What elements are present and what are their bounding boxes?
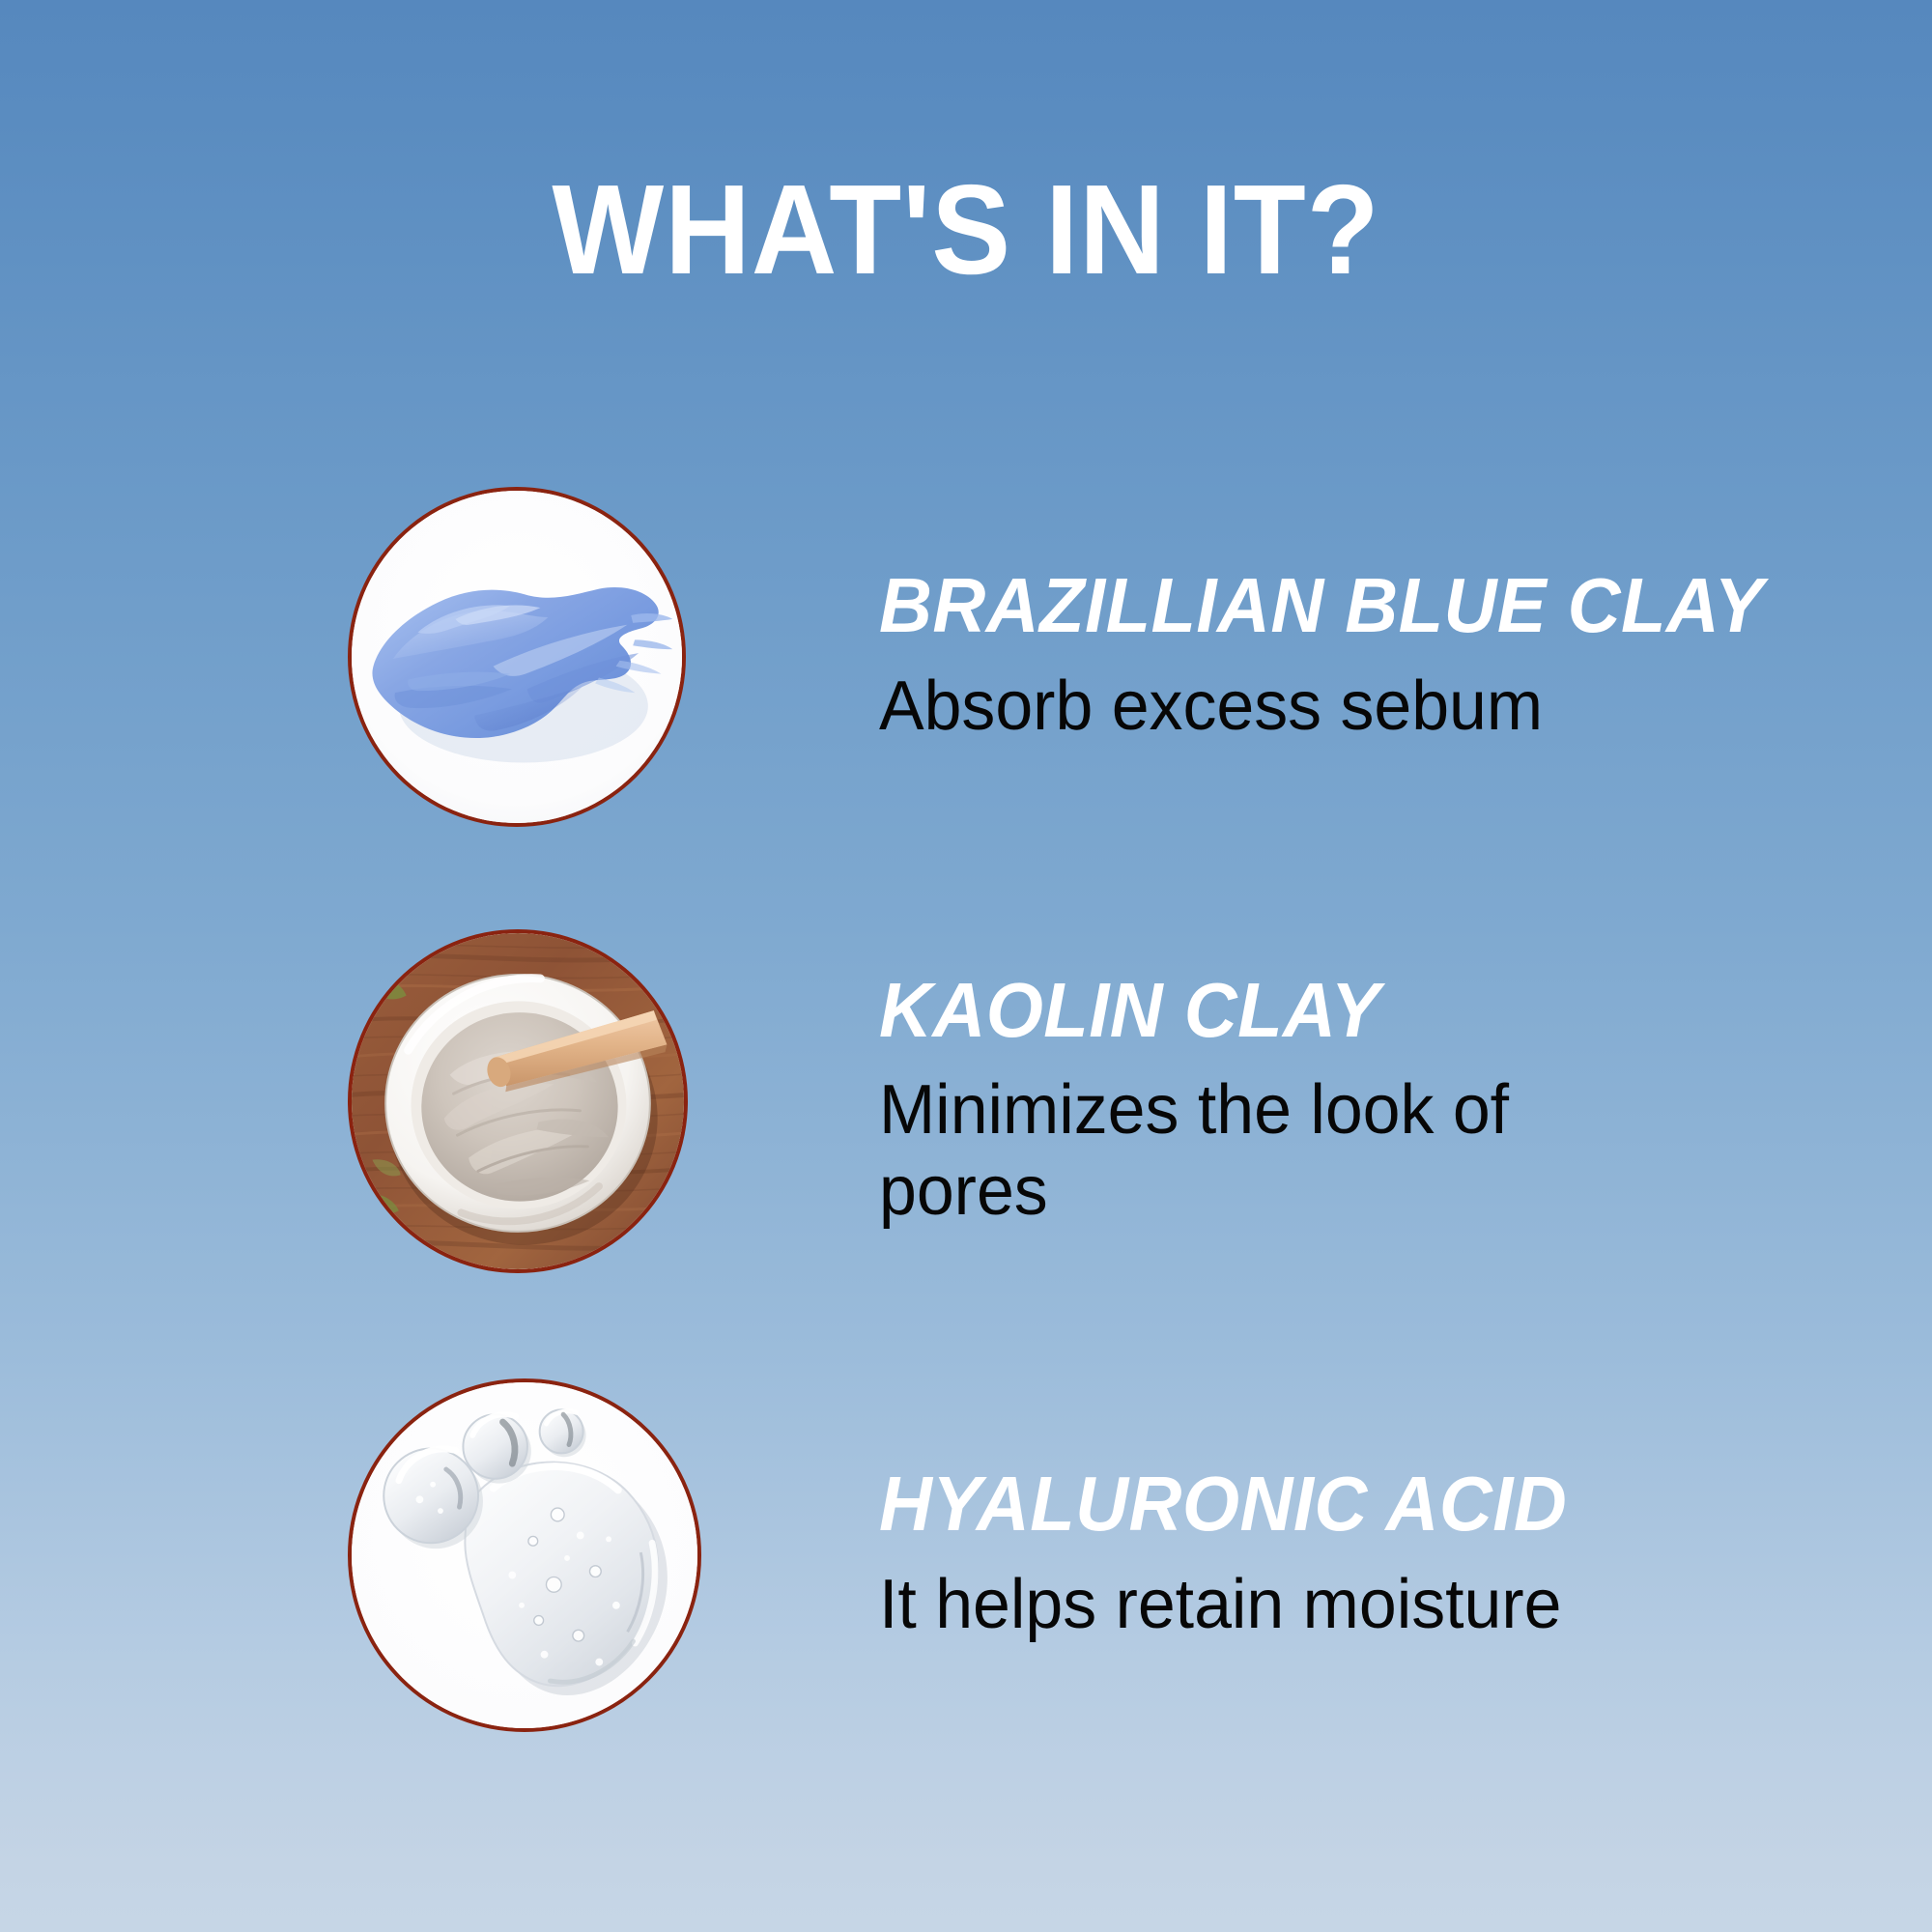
ingredient-row: HYALURONIC ACID It helps retain moisture: [0, 1377, 1932, 1734]
page-title: WHAT'S IN IT?: [68, 166, 1864, 294]
ingredient-name: HYALURONIC ACID: [879, 1464, 1770, 1544]
ingredient-thumb-wrapper: [348, 487, 686, 827]
ingredient-thumb-wrapper: [348, 1378, 701, 1732]
ingredient-row: BRAZILLIAN BLUE CLAY Absorb excess sebum: [0, 483, 1932, 831]
blue-clay-smear-photo: [348, 487, 686, 827]
ingredients-infographic: WHAT'S IN IT?: [0, 0, 1932, 1932]
ingredient-name: BRAZILLIAN BLUE CLAY: [879, 566, 1770, 645]
hyaluronic-acid-gel-droplets-photo: [348, 1378, 701, 1732]
ingredient-text-block: BRAZILLIAN BLUE CLAY Absorb excess sebum: [879, 566, 1932, 747]
ingredient-text-block: KAOLIN CLAY Minimizes the look of pores: [879, 971, 1932, 1233]
ingredient-thumb-wrapper: [348, 929, 688, 1273]
ingredient-name: KAOLIN CLAY: [879, 971, 1770, 1050]
kaolin-clay-bowl-photo: [348, 929, 688, 1273]
ingredient-description: It helps retain moisture: [879, 1565, 1788, 1646]
ingredient-description: Absorb excess sebum: [879, 667, 1788, 748]
ingredient-text-block: HYALURONIC ACID It helps retain moisture: [879, 1464, 1932, 1645]
ingredient-row: KAOLIN CLAY Minimizes the look of pores: [0, 927, 1932, 1275]
ingredient-description: Minimizes the look of pores: [879, 1070, 1619, 1232]
